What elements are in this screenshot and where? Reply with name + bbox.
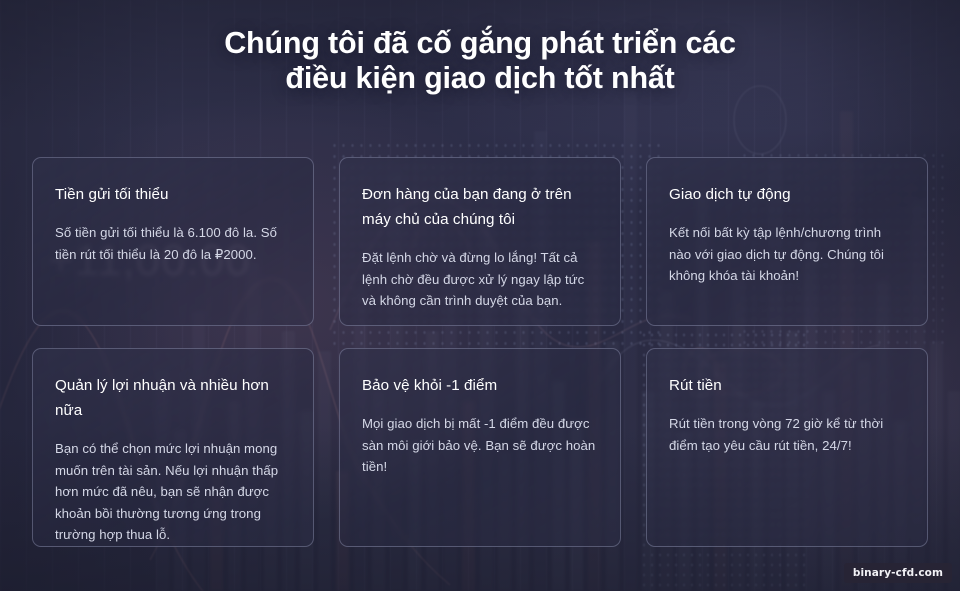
promo-page: +11,00.00 Chúng tôi đã cố gắng phát triể… — [0, 0, 960, 591]
site-watermark: binary-cfd.com — [844, 563, 952, 583]
card-title: Tiền gửi tối thiểu — [55, 182, 291, 207]
card-title: Rút tiền — [669, 373, 905, 398]
feature-card-minimum-deposit: Tiền gửi tối thiểu Số tiền gửi tối thiểu… — [32, 157, 314, 326]
page-title-line-1: Chúng tôi đã cố gắng phát triển các — [0, 26, 960, 61]
card-body: Kết nối bất kỳ tập lệnh/chương trình nào… — [669, 222, 905, 287]
feature-card-grid: Tiền gửi tối thiểu Số tiền gửi tối thiểu… — [32, 157, 928, 517]
card-body: Bạn có thể chọn mức lợi nhuận mong muốn … — [55, 438, 291, 546]
feature-card-profit-management: Quản lý lợi nhuận và nhiều hơn nữa Bạn c… — [32, 348, 314, 547]
card-body: Rút tiền trong vòng 72 giờ kể từ thời đi… — [669, 413, 905, 456]
feature-card-automated-trading: Giao dịch tự động Kết nối bất kỳ tập lện… — [646, 157, 928, 326]
page-title-text: Chúng tôi đã cố gắng phát triển các điều… — [0, 26, 960, 96]
feature-card-minus-one-point-protection: Bảo vệ khỏi -1 điểm Mọi giao dịch bị mất… — [339, 348, 621, 547]
card-body: Số tiền gửi tối thiểu là 6.100 đô la. Số… — [55, 222, 291, 265]
feature-card-orders-on-server: Đơn hàng của bạn đang ở trên máy chủ của… — [339, 157, 621, 326]
card-title: Giao dịch tự động — [669, 182, 905, 207]
card-title: Đơn hàng của bạn đang ở trên máy chủ của… — [362, 182, 598, 232]
card-title: Quản lý lợi nhuận và nhiều hơn nữa — [55, 373, 291, 423]
card-body: Đặt lệnh chờ và đừng lo lắng! Tất cả lện… — [362, 247, 598, 312]
card-title: Bảo vệ khỏi -1 điểm — [362, 373, 598, 398]
feature-card-withdrawal: Rút tiền Rút tiền trong vòng 72 giờ kể t… — [646, 348, 928, 547]
card-body: Mọi giao dịch bị mất -1 điểm đều được sà… — [362, 413, 598, 478]
page-title: Chúng tôi đã cố gắng phát triển các điều… — [0, 26, 960, 96]
page-title-line-2: điều kiện giao dịch tốt nhất — [0, 61, 960, 96]
